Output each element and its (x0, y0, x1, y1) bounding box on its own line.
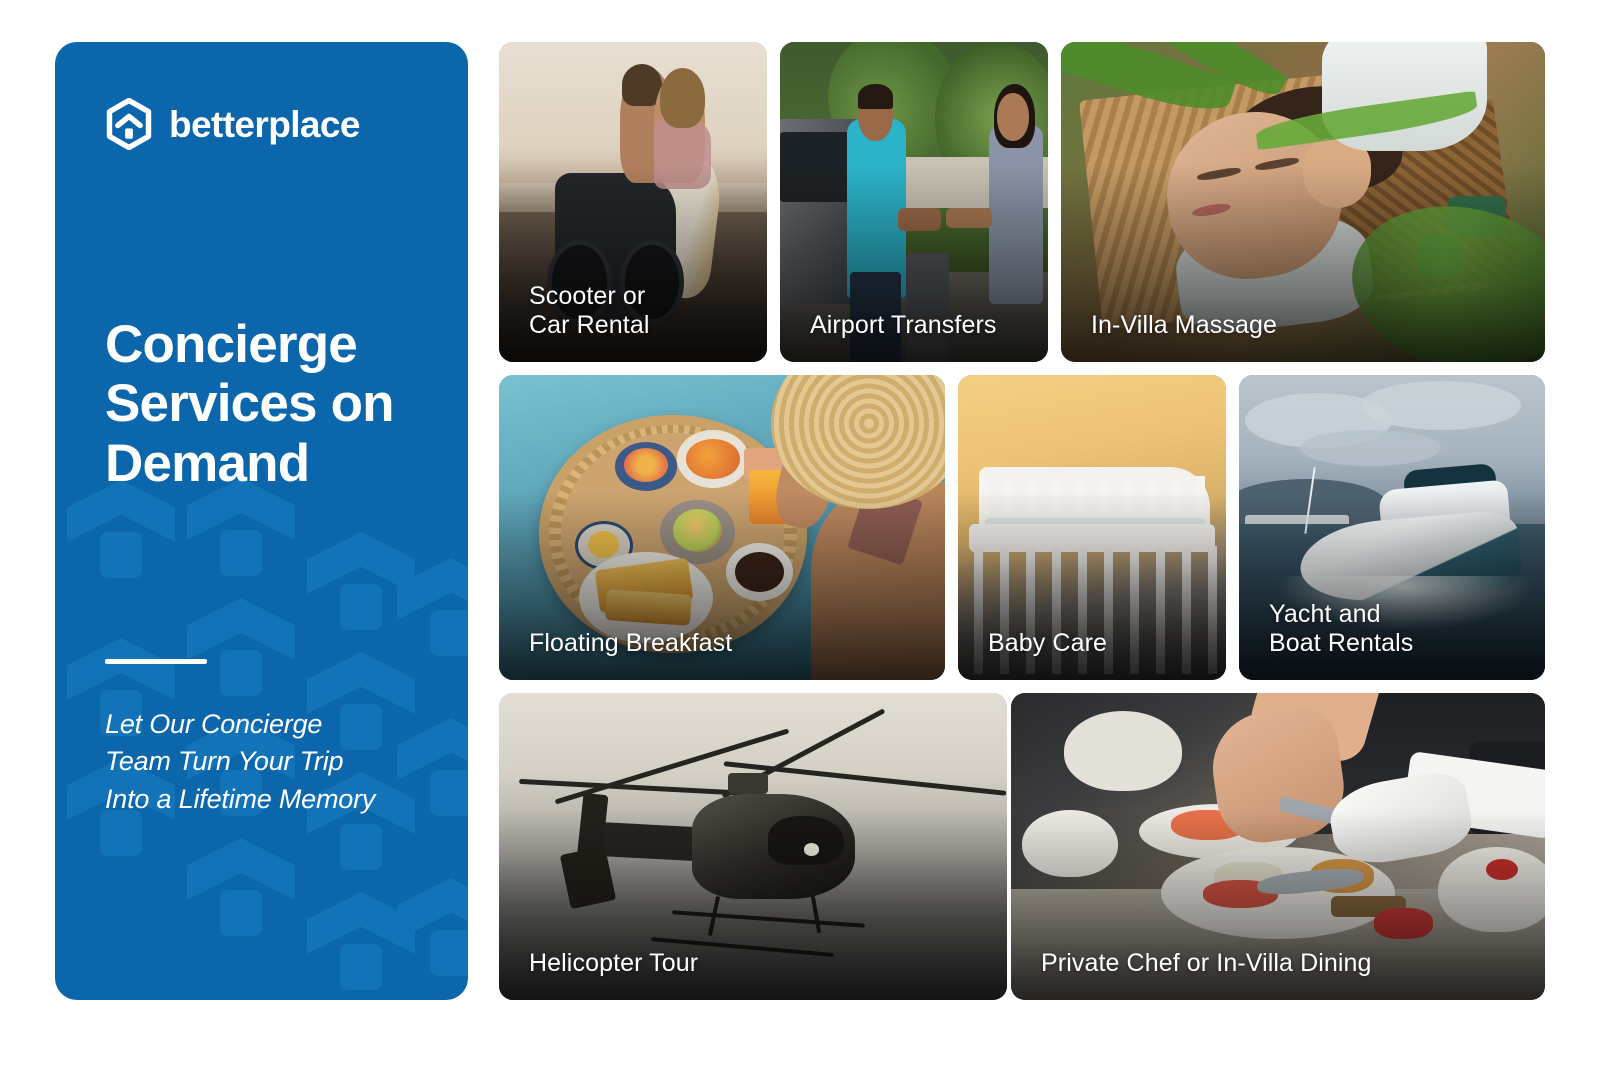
service-card-in-villa-massage[interactable]: In-Villa Massage (1061, 42, 1545, 362)
divider (105, 659, 207, 664)
concierge-services-poster: betterplace Concierge Services on Demand… (0, 0, 1600, 1067)
service-card-grid: Scooter or Car Rental Airport Transfers (499, 42, 1545, 1000)
service-label: In-Villa Massage (1091, 311, 1525, 340)
service-label: Helicopter Tour (529, 949, 987, 978)
service-label: Floating Breakfast (529, 629, 925, 658)
service-card-baby-care[interactable]: Baby Care (958, 375, 1226, 680)
tagline: Let Our Concierge Team Turn Your Trip In… (105, 706, 435, 818)
brand-name: betterplace (169, 106, 360, 143)
service-label: Baby Care (988, 629, 1206, 658)
service-card-yacht-and-boat-rentals[interactable]: Yacht and Boat Rentals (1239, 375, 1545, 680)
service-label: Scooter or Car Rental (529, 282, 747, 340)
service-card-airport-transfers[interactable]: Airport Transfers (780, 42, 1048, 362)
brand-logo[interactable]: betterplace (105, 98, 468, 150)
service-label: Yacht and Boat Rentals (1269, 600, 1525, 658)
brand-panel: betterplace Concierge Services on Demand… (55, 42, 468, 1000)
service-card-floating-breakfast[interactable]: Floating Breakfast (499, 375, 945, 680)
service-card-scooter-or-car-rental[interactable]: Scooter or Car Rental (499, 42, 767, 362)
page-title: Concierge Services on Demand (105, 315, 435, 493)
service-label: Airport Transfers (810, 311, 1028, 340)
hexagon-house-logo-icon (105, 98, 153, 150)
service-label: Private Chef or In-Villa Dining (1041, 949, 1525, 978)
service-card-helicopter-tour[interactable]: Helicopter Tour (499, 693, 1007, 1000)
service-card-private-chef-or-in-villa-dining[interactable]: Private Chef or In-Villa Dining (1011, 693, 1545, 1000)
